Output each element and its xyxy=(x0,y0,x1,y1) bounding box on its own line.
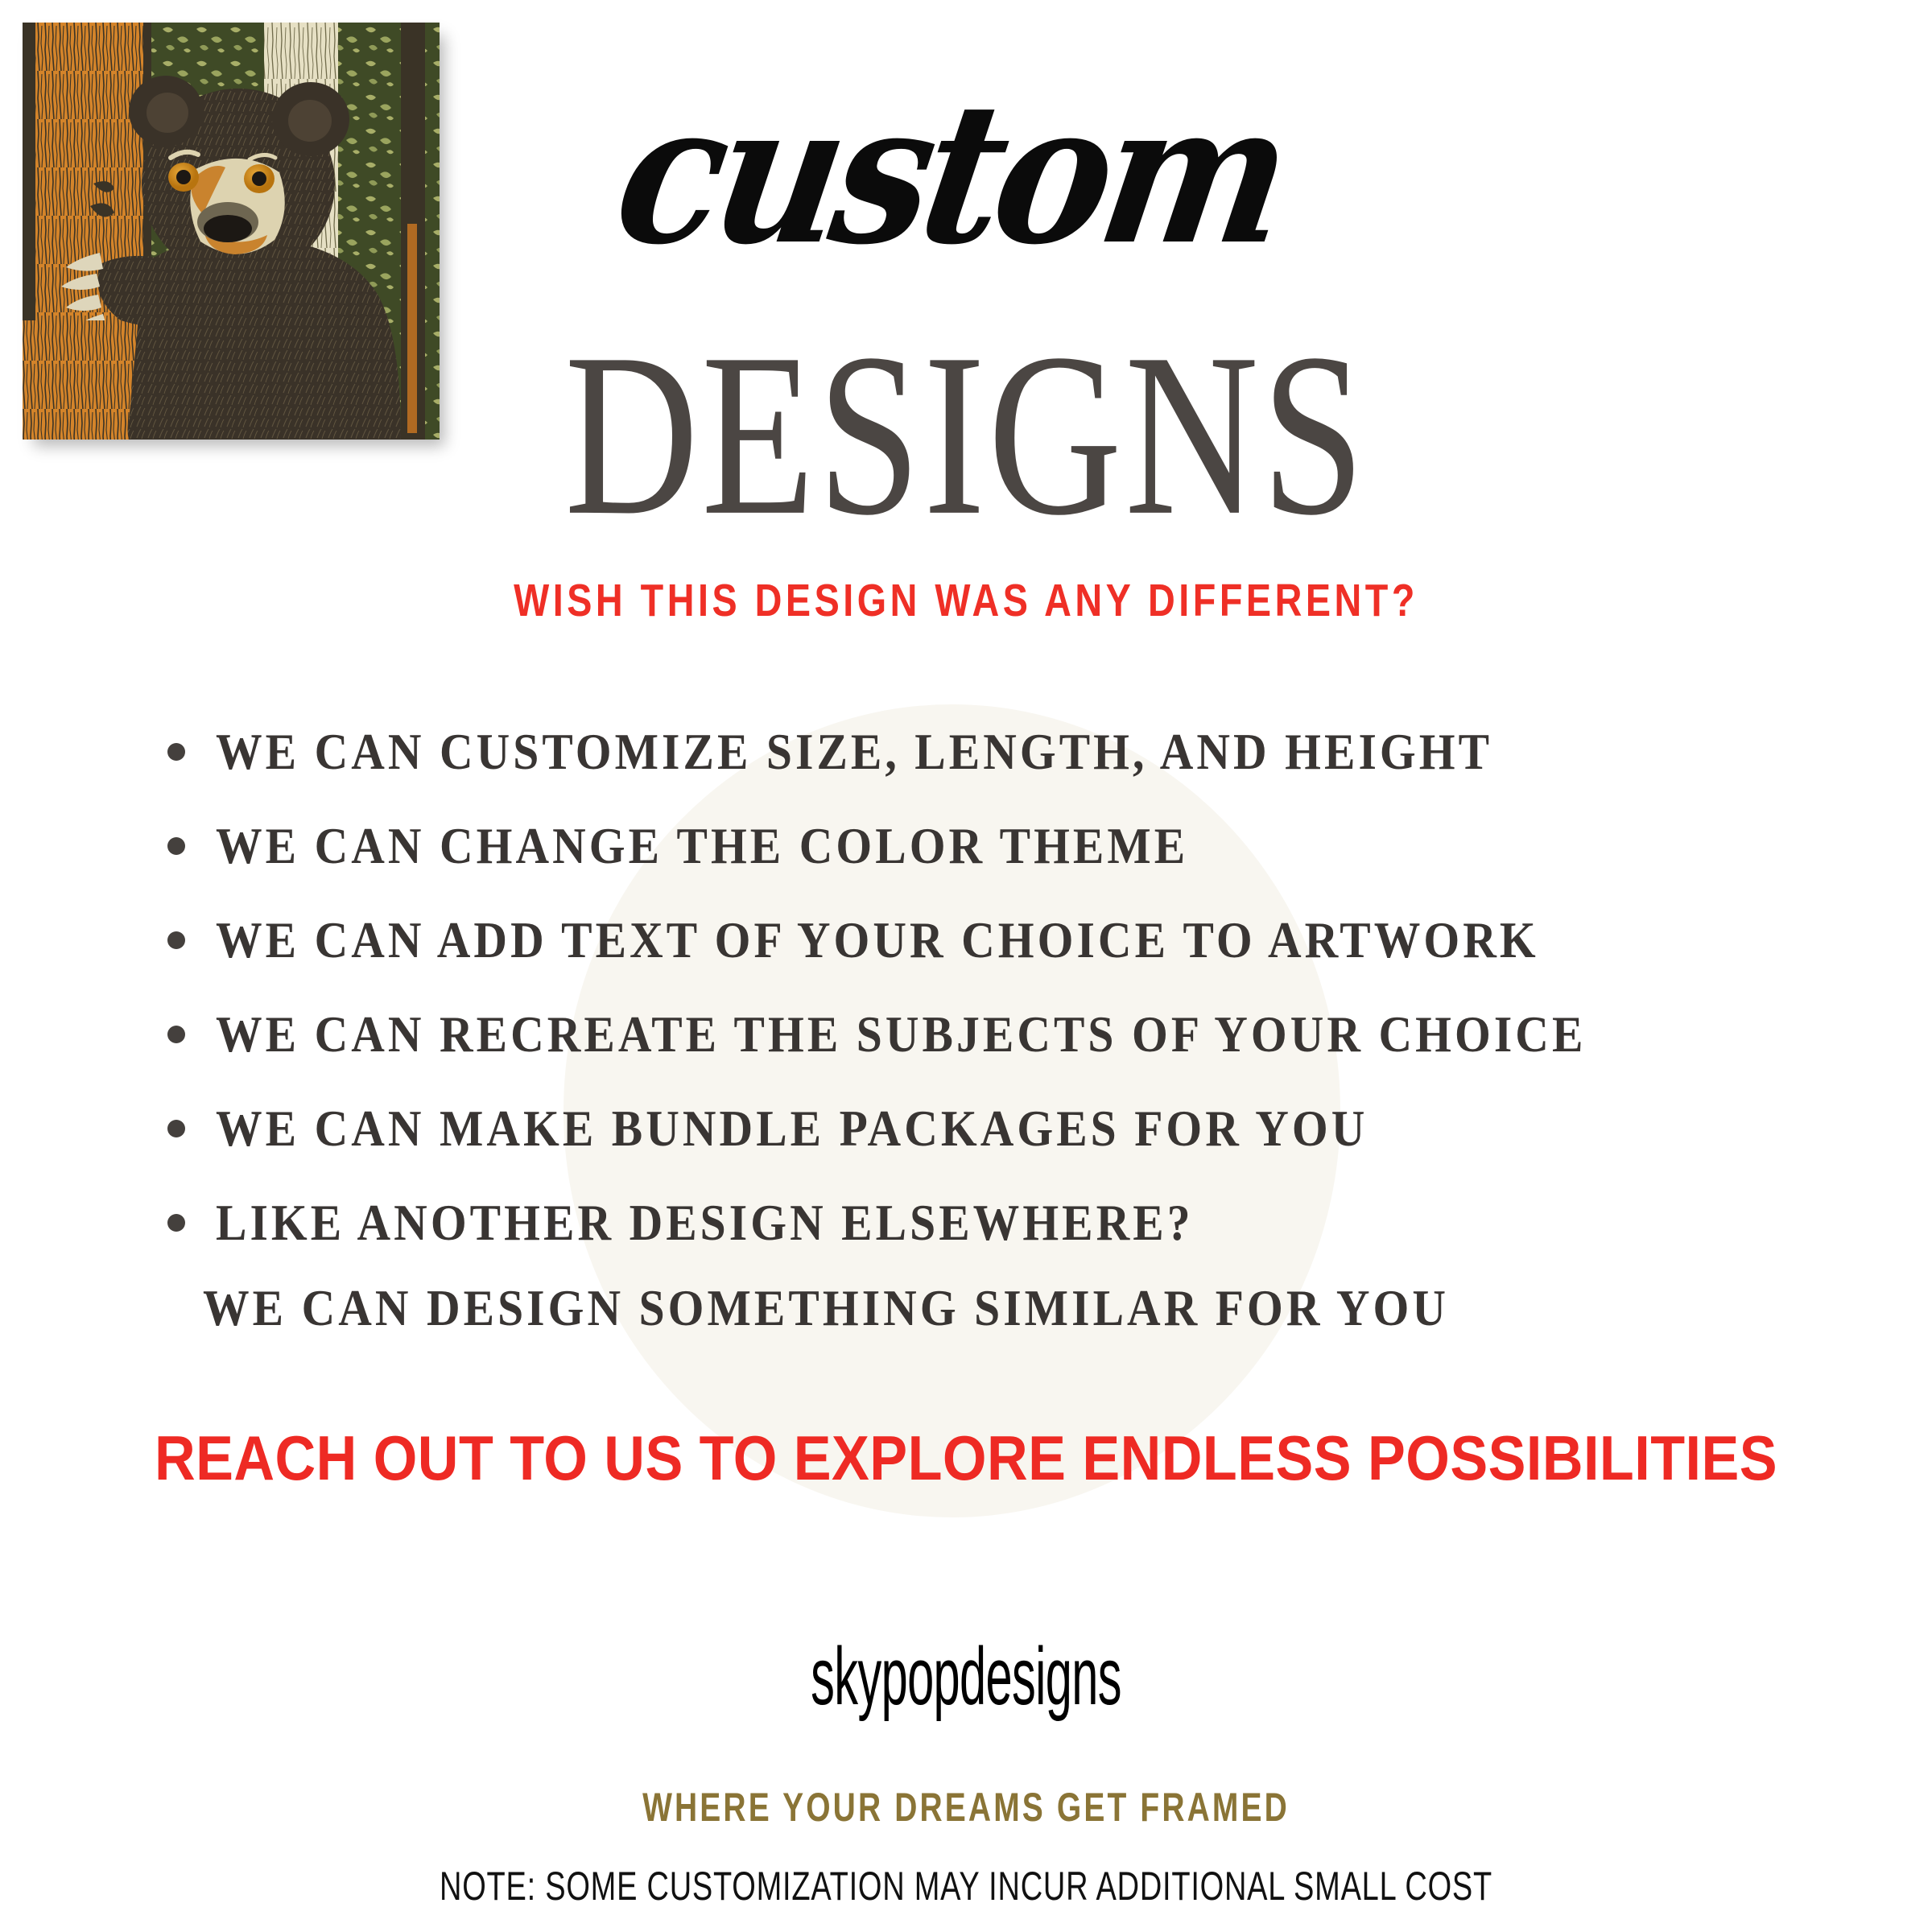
list-item: WE CAN MAKE BUNDLE PACKAGES FOR YOU xyxy=(158,1081,1824,1175)
bear-linocut-illustration xyxy=(23,23,440,440)
subtitle-question: WISH THIS DESIGN WAS ANY DIFFERENT? xyxy=(174,578,1758,624)
list-item: WE CAN CHANGE THE COLOR THEME xyxy=(158,799,1824,893)
call-to-action-text: REACH OUT TO US TO EXPLORE ENDLESS POSSI… xyxy=(97,1426,1835,1489)
bullet-dot-icon xyxy=(167,1214,185,1232)
feature-list: WE CAN CUSTOMIZE SIZE, LENGTH, AND HEIGH… xyxy=(158,704,1824,1269)
bullet-dot-icon xyxy=(167,837,185,855)
footnote-disclaimer: NOTE: SOME CUSTOMIZATION MAY INCUR ADDIT… xyxy=(232,1866,1700,1906)
list-item: WE CAN RECREATE THE SUBJECTS OF YOUR CHO… xyxy=(158,987,1824,1081)
list-item-label: WE CAN ADD TEXT OF YOUR CHOICE TO ARTWOR… xyxy=(216,914,1539,966)
brand-tagline: WHERE YOUR DREAMS GET FRAMED xyxy=(213,1787,1719,1827)
bullet-dot-icon xyxy=(167,931,185,949)
list-item: WE CAN CUSTOMIZE SIZE, LENGTH, AND HEIGH… xyxy=(158,704,1824,799)
bullet-dot-icon xyxy=(167,1026,185,1043)
bullet-dot-icon xyxy=(167,1120,185,1137)
list-item: WE CAN ADD TEXT OF YOUR CHOICE TO ARTWOR… xyxy=(158,893,1824,987)
list-item-label: WE CAN RECREATE THE SUBJECTS OF YOUR CHO… xyxy=(216,1009,1586,1060)
list-item-label: WE CAN CUSTOMIZE SIZE, LENGTH, AND HEIGH… xyxy=(216,726,1492,778)
artwork-thumbnail[interactable] xyxy=(23,23,440,440)
list-item-label: LIKE ANOTHER DESIGN ELSEWHERE? xyxy=(216,1197,1194,1249)
list-item-label: WE CAN CHANGE THE COLOR THEME xyxy=(216,820,1188,872)
list-item: LIKE ANOTHER DESIGN ELSEWHERE? xyxy=(158,1175,1824,1269)
brand-logo-wordmark: skypopdesigns xyxy=(367,1637,1565,1718)
list-item-label: WE CAN MAKE BUNDLE PACKAGES FOR YOU xyxy=(216,1103,1368,1154)
bullet-dot-icon xyxy=(167,743,185,761)
list-item-continuation: WE CAN DESIGN SOMETHING SIMILAR FOR YOU xyxy=(203,1282,1449,1334)
